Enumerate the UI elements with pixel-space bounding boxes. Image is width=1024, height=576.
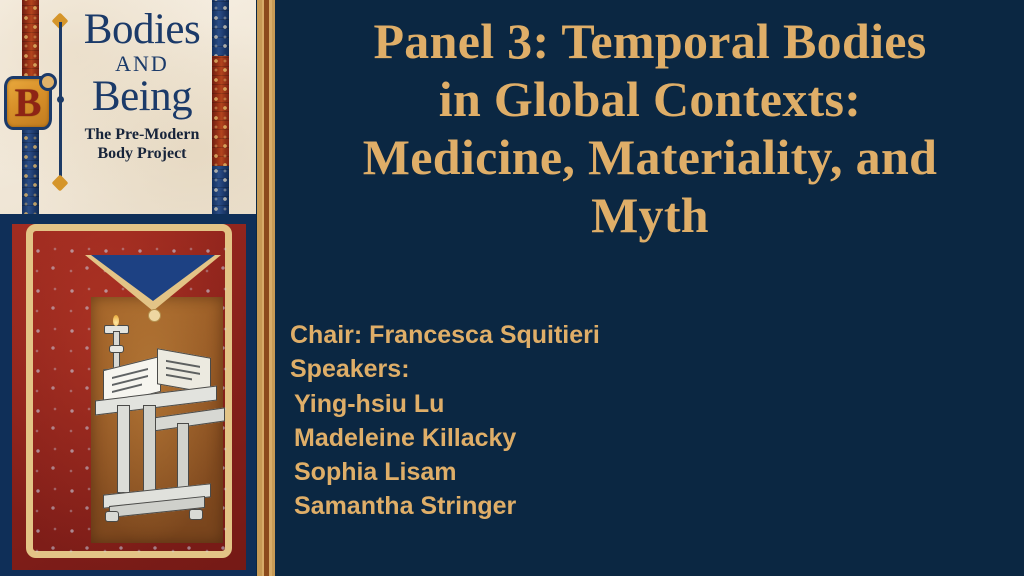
presentation-slide: B Bodies AND Being The Pre-Modern Body P… (0, 0, 1024, 576)
credits-block: Chair: Francesca Squitieri Speakers: Yin… (290, 318, 990, 524)
page-title: Panel 3: Temporal Bodies in Global Conte… (290, 12, 1010, 244)
lectern-foot-left (105, 511, 119, 522)
manuscript-blue-field (29, 241, 229, 553)
manuscript-gold-arch-inner (91, 255, 215, 301)
lectern-column-front (117, 405, 130, 493)
title-line-2: in Global Contexts: (290, 70, 1010, 128)
gold-vertical-divider (256, 0, 276, 576)
candle-flame-icon (113, 315, 119, 326)
wordmark-line-being: Being (62, 75, 222, 119)
title-line-1: Panel 3: Temporal Bodies (290, 12, 1010, 70)
lectern-column-side (177, 423, 189, 493)
lectern-illustration (91, 327, 229, 547)
slide-content-area: Panel 3: Temporal Bodies in Global Conte… (276, 0, 1024, 576)
project-logo-card: B Bodies AND Being The Pre-Modern Body P… (0, 0, 256, 214)
candle-knob-icon (109, 345, 124, 353)
speaker-name: Ying-hsiu Lu (290, 387, 990, 421)
diamond-ornament-bottom-icon (52, 175, 69, 192)
manuscript-arch-bead (148, 309, 161, 322)
title-line-4: Myth (290, 186, 1010, 244)
chair-line: Chair: Francesca Squitieri (290, 318, 990, 352)
title-line-3: Medicine, Materiality, and (290, 128, 1010, 186)
wordmark-line-and: AND (62, 53, 222, 75)
logo-wordmark: Bodies AND Being The Pre-Modern Body Pro… (62, 8, 222, 163)
speaker-name: Sophia Lisam (290, 455, 990, 489)
wordmark-subtitle-line1: The Pre-Modern (62, 125, 222, 144)
lectern-foot-right (189, 509, 203, 520)
initial-letter-glyph: B (4, 76, 52, 130)
lectern-column-mid (143, 405, 156, 493)
wordmark-line-bodies: Bodies (62, 8, 222, 51)
wordmark-subtitle-line2: Body Project (62, 144, 222, 163)
illuminated-initial-b: B (4, 76, 52, 130)
speaker-name: Samantha Stringer (290, 489, 990, 523)
speakers-label: Speakers: (290, 352, 990, 386)
illuminated-manuscript-image (0, 214, 256, 576)
left-artwork-column: B Bodies AND Being The Pre-Modern Body P… (0, 0, 256, 576)
speaker-name: Madeleine Killacky (290, 421, 990, 455)
